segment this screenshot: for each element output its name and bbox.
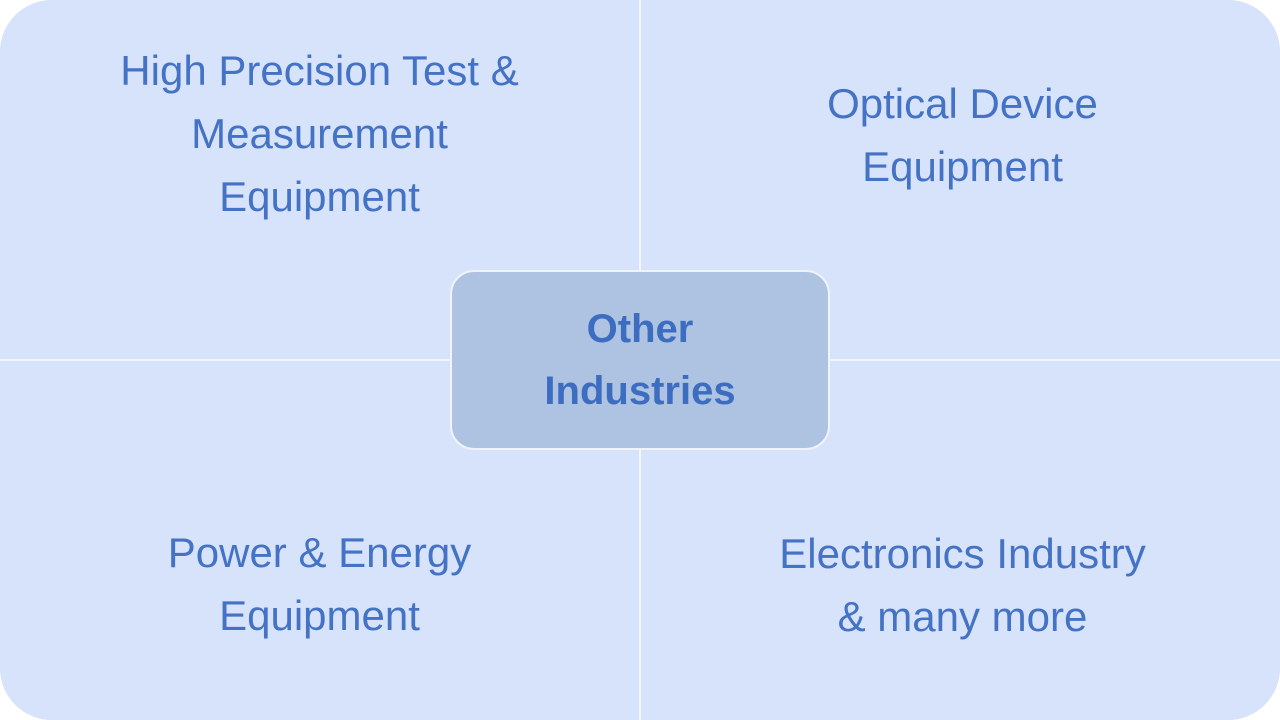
quadrant-bottom-left-label: Power & Energy Equipment bbox=[154, 521, 485, 647]
quadrant-bottom-right-label: Electronics Industry & many more bbox=[765, 522, 1159, 648]
diagram-root: High Precision Test & Measurement Equipm… bbox=[0, 0, 1280, 720]
center-hub-label: Other Industries bbox=[544, 298, 735, 422]
quadrant-panel: High Precision Test & Measurement Equipm… bbox=[0, 0, 1280, 720]
quadrant-top-right-label: Optical Device Equipment bbox=[813, 72, 1112, 198]
center-hub-badge[interactable]: Other Industries bbox=[450, 270, 830, 450]
quadrant-top-left-label: High Precision Test & Measurement Equipm… bbox=[106, 39, 532, 228]
